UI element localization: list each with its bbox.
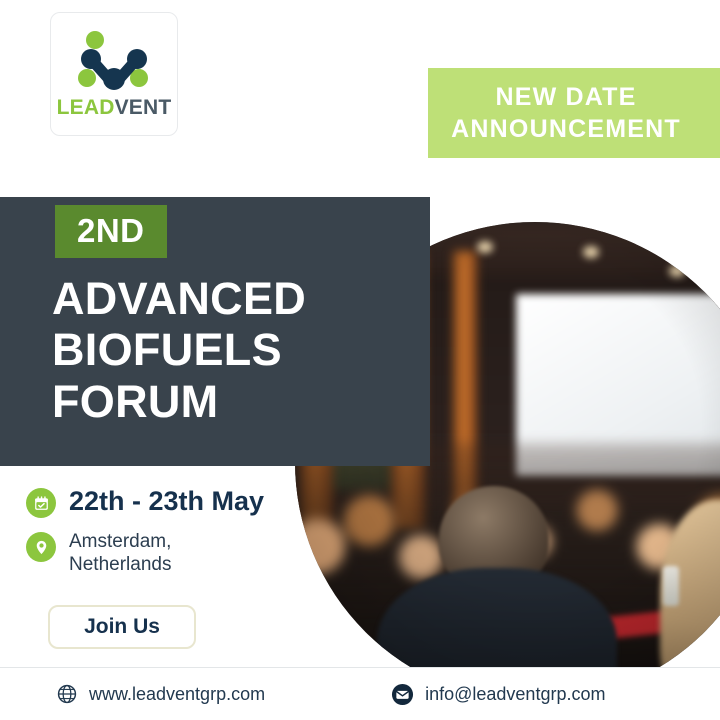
event-location-line-1: Amsterdam, [69,530,171,553]
footer: www.leadventgrp.com info@leadventgrp.com [0,667,720,720]
event-date: 22th - 23th May [69,486,264,516]
brand-wordmark: LEADVENT [57,97,172,118]
page-title: ADVANCED BIOFUELS FORUM [52,273,306,427]
brand-logo[interactable]: LEADVENT [50,12,178,136]
event-location-line-2: Netherlands [69,553,171,576]
announcement-line-2: ANNOUNCEMENT [451,113,681,145]
email-link[interactable]: info@leadventgrp.com [391,683,605,706]
envelope-icon [391,683,414,706]
event-location-row: Amsterdam, Netherlands [26,530,264,576]
title-line-3: FORUM [52,376,306,427]
brand-name-part1: LEAD [57,96,115,119]
event-location-text-wrap: Amsterdam, Netherlands [69,530,171,576]
calendar-icon [26,488,56,518]
leadvent-molecule-logo-icon [77,31,151,93]
brand-name-part2: VENT [115,96,172,119]
event-date-text-wrap: 22th - 23th May [69,486,264,516]
event-date-row: 22th - 23th May [26,486,264,518]
email-text: info@leadventgrp.com [425,684,605,705]
title-line-1: ADVANCED [52,273,306,324]
globe-icon [56,683,78,705]
website-text: www.leadventgrp.com [89,684,265,705]
website-link[interactable]: www.leadventgrp.com [56,683,265,705]
join-us-button[interactable]: Join Us [48,605,196,649]
event-details: 22th - 23th May Amsterdam, Netherlands [26,486,264,588]
title-line-2: BIOFUELS [52,324,306,375]
title-panel: 2ND ADVANCED BIOFUELS FORUM [0,197,430,466]
edition-badge: 2ND [55,205,167,258]
event-poster: 2ND ADVANCED BIOFUELS FORUM LEADVENT NEW… [0,0,720,720]
new-date-announcement-banner: NEW DATE ANNOUNCEMENT [428,68,720,158]
announcement-line-1: NEW DATE [495,81,636,113]
map-pin-icon [26,532,56,562]
